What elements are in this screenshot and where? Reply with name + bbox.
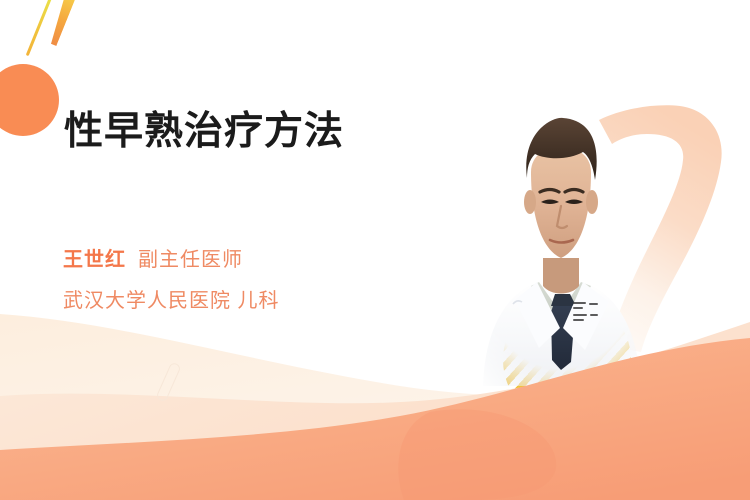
doctor-affiliation-line: 武汉大学人民医院 儿科 xyxy=(63,287,280,315)
diagonal-orange-stripe-icon xyxy=(45,0,79,46)
doctor-intro-poster: 性早熟治疗方法 王世红副主任医师 武汉大学人民医院 儿科 xyxy=(0,0,750,500)
diagonal-yellow-stripe-icon xyxy=(26,0,54,56)
doctor-rank: 副主任医师 xyxy=(138,249,243,271)
orange-circle-decoration xyxy=(0,64,59,136)
doctor-affiliation: 武汉大学人民医院 儿科 xyxy=(63,290,280,312)
doctor-portrait-image xyxy=(455,86,665,386)
doctor-name: 王世红 xyxy=(63,249,126,271)
poster-title: 性早熟治疗方法 xyxy=(64,112,344,151)
faint-outline-capsule-decoration xyxy=(155,361,181,402)
doctor-credit-line: 王世红副主任医师 xyxy=(63,246,243,274)
